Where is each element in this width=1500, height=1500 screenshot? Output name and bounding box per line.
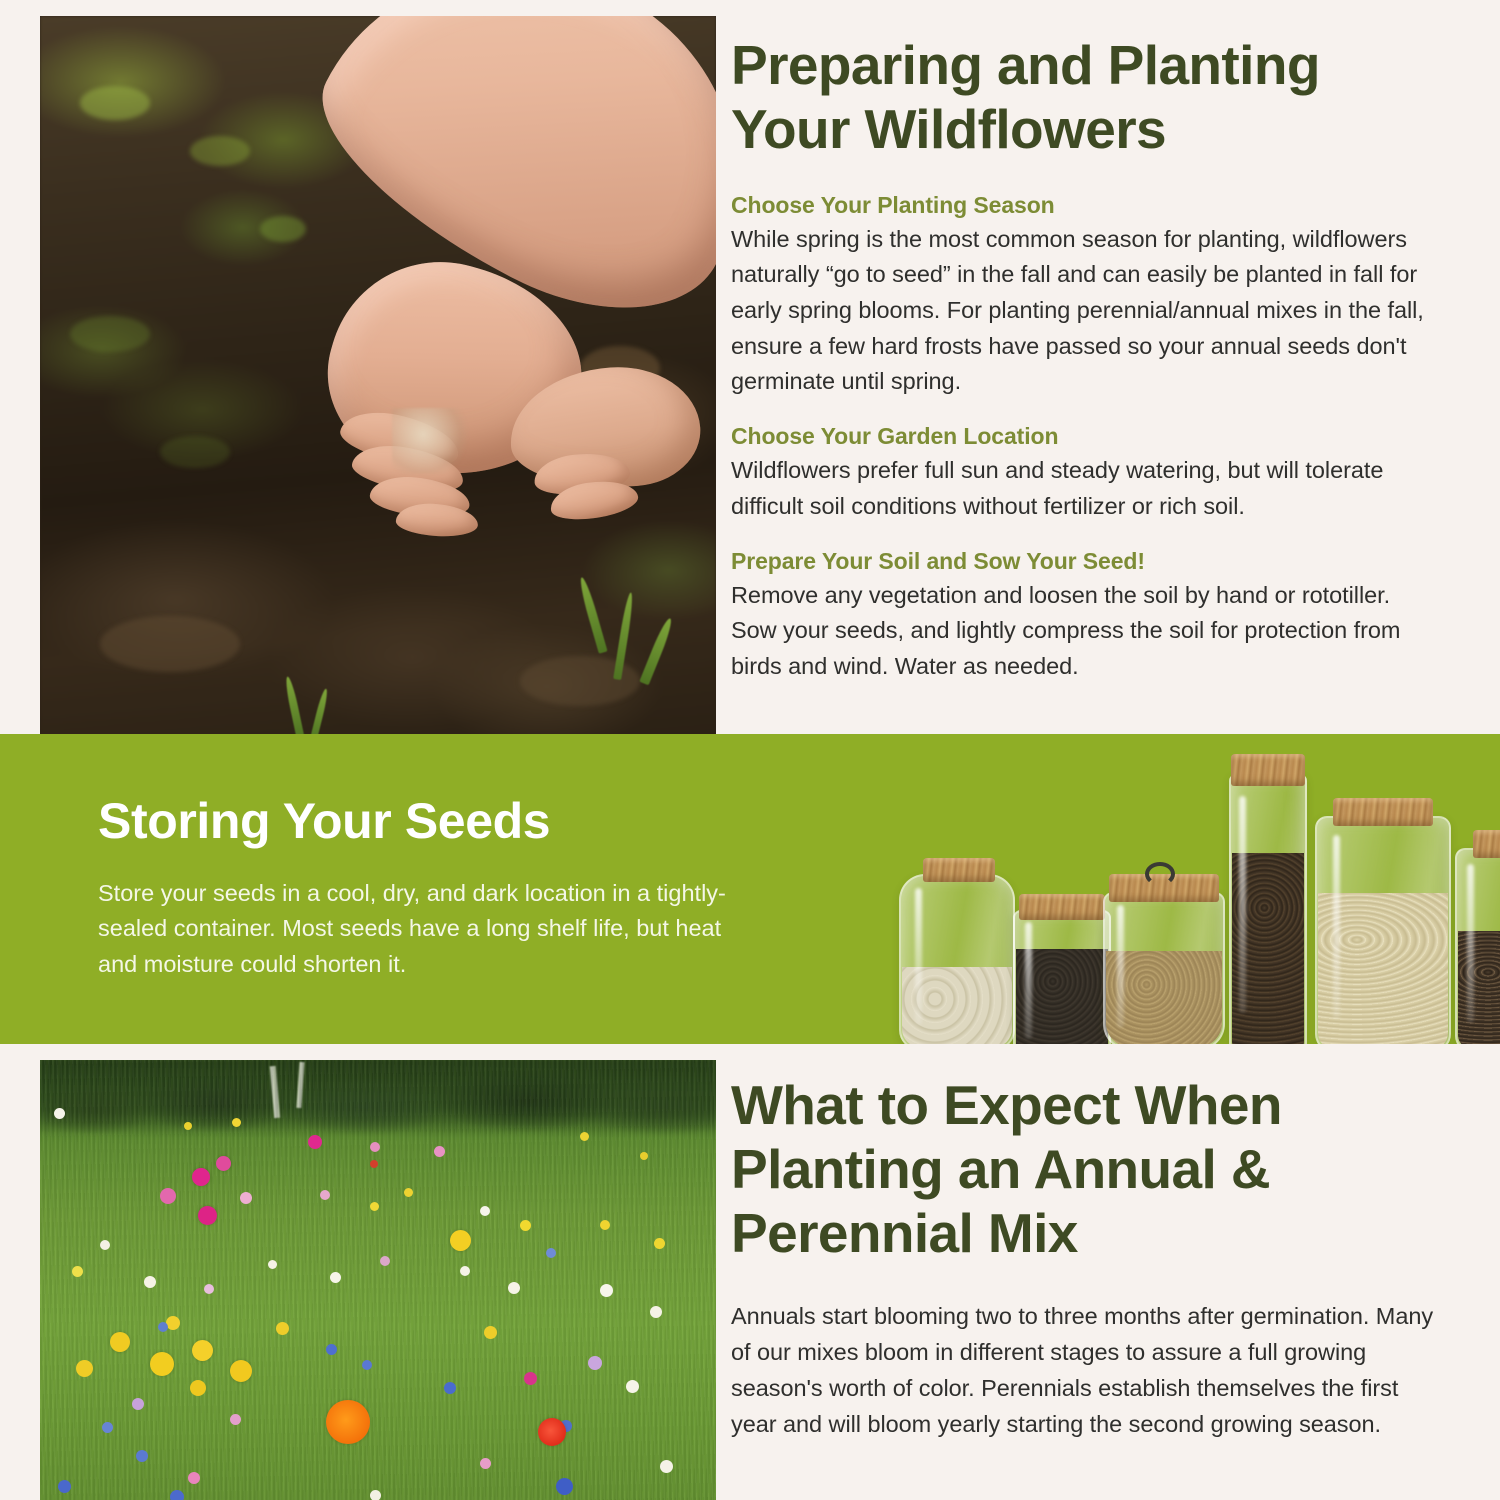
jar-black-seeds — [1013, 910, 1111, 1044]
section-what-to-expect: What to Expect When Planting an Annual &… — [0, 1044, 1500, 1500]
expectations-text-column: What to Expect When Planting an Annual &… — [731, 1074, 1441, 1442]
jar-sunflower-seeds — [1455, 848, 1500, 1044]
subsection-planting-season: Choose Your Planting Season While spring… — [731, 192, 1431, 401]
subsection-heading: Choose Your Planting Season — [731, 192, 1431, 219]
page-title: Preparing and Planting Your Wildflowers — [731, 34, 1431, 162]
subsection-heading: Choose Your Garden Location — [731, 423, 1431, 450]
seed-jars-image — [885, 760, 1500, 1044]
subsection-body: Wildflowers prefer full sun and steady w… — [731, 453, 1431, 524]
subsection-body: Remove any vegetation and loosen the soi… — [731, 578, 1431, 685]
storing-title: Storing Your Seeds — [98, 792, 738, 850]
jar-brown-grain — [1103, 892, 1225, 1044]
subsection-garden-location: Choose Your Garden Location Wildflowers … — [731, 423, 1431, 524]
section-storing-your-seeds: Storing Your Seeds Store your seeds in a… — [0, 734, 1500, 1044]
jar-tall-dark-seeds — [1229, 774, 1307, 1044]
subsection-body: While spring is the most common season f… — [731, 222, 1431, 401]
planting-text-column: Preparing and Planting Your Wildflowers … — [731, 34, 1431, 685]
grass-texture — [40, 1060, 716, 1500]
subsection-heading: Prepare Your Soil and Sow Your Seed! — [731, 548, 1431, 575]
section-preparing-and-planting: Preparing and Planting Your Wildflowers … — [0, 0, 1500, 734]
storing-body: Store your seeds in a cool, dry, and dar… — [98, 876, 738, 982]
storing-text-column: Storing Your Seeds Store your seeds in a… — [98, 792, 738, 982]
wildflower-meadow-image — [40, 1060, 716, 1500]
expectations-title: What to Expect When Planting an Annual &… — [731, 1074, 1441, 1265]
infographic-page: Preparing and Planting Your Wildflowers … — [0, 0, 1500, 1500]
hand-sowing-seeds-image — [40, 16, 716, 745]
falling-seeds — [392, 408, 470, 474]
expectations-body: Annuals start blooming two to three mont… — [731, 1299, 1441, 1442]
jar-white-beans — [899, 874, 1015, 1044]
subsection-prepare-soil: Prepare Your Soil and Sow Your Seed! Rem… — [731, 548, 1431, 685]
jar-pumpkin-seeds — [1315, 816, 1451, 1044]
